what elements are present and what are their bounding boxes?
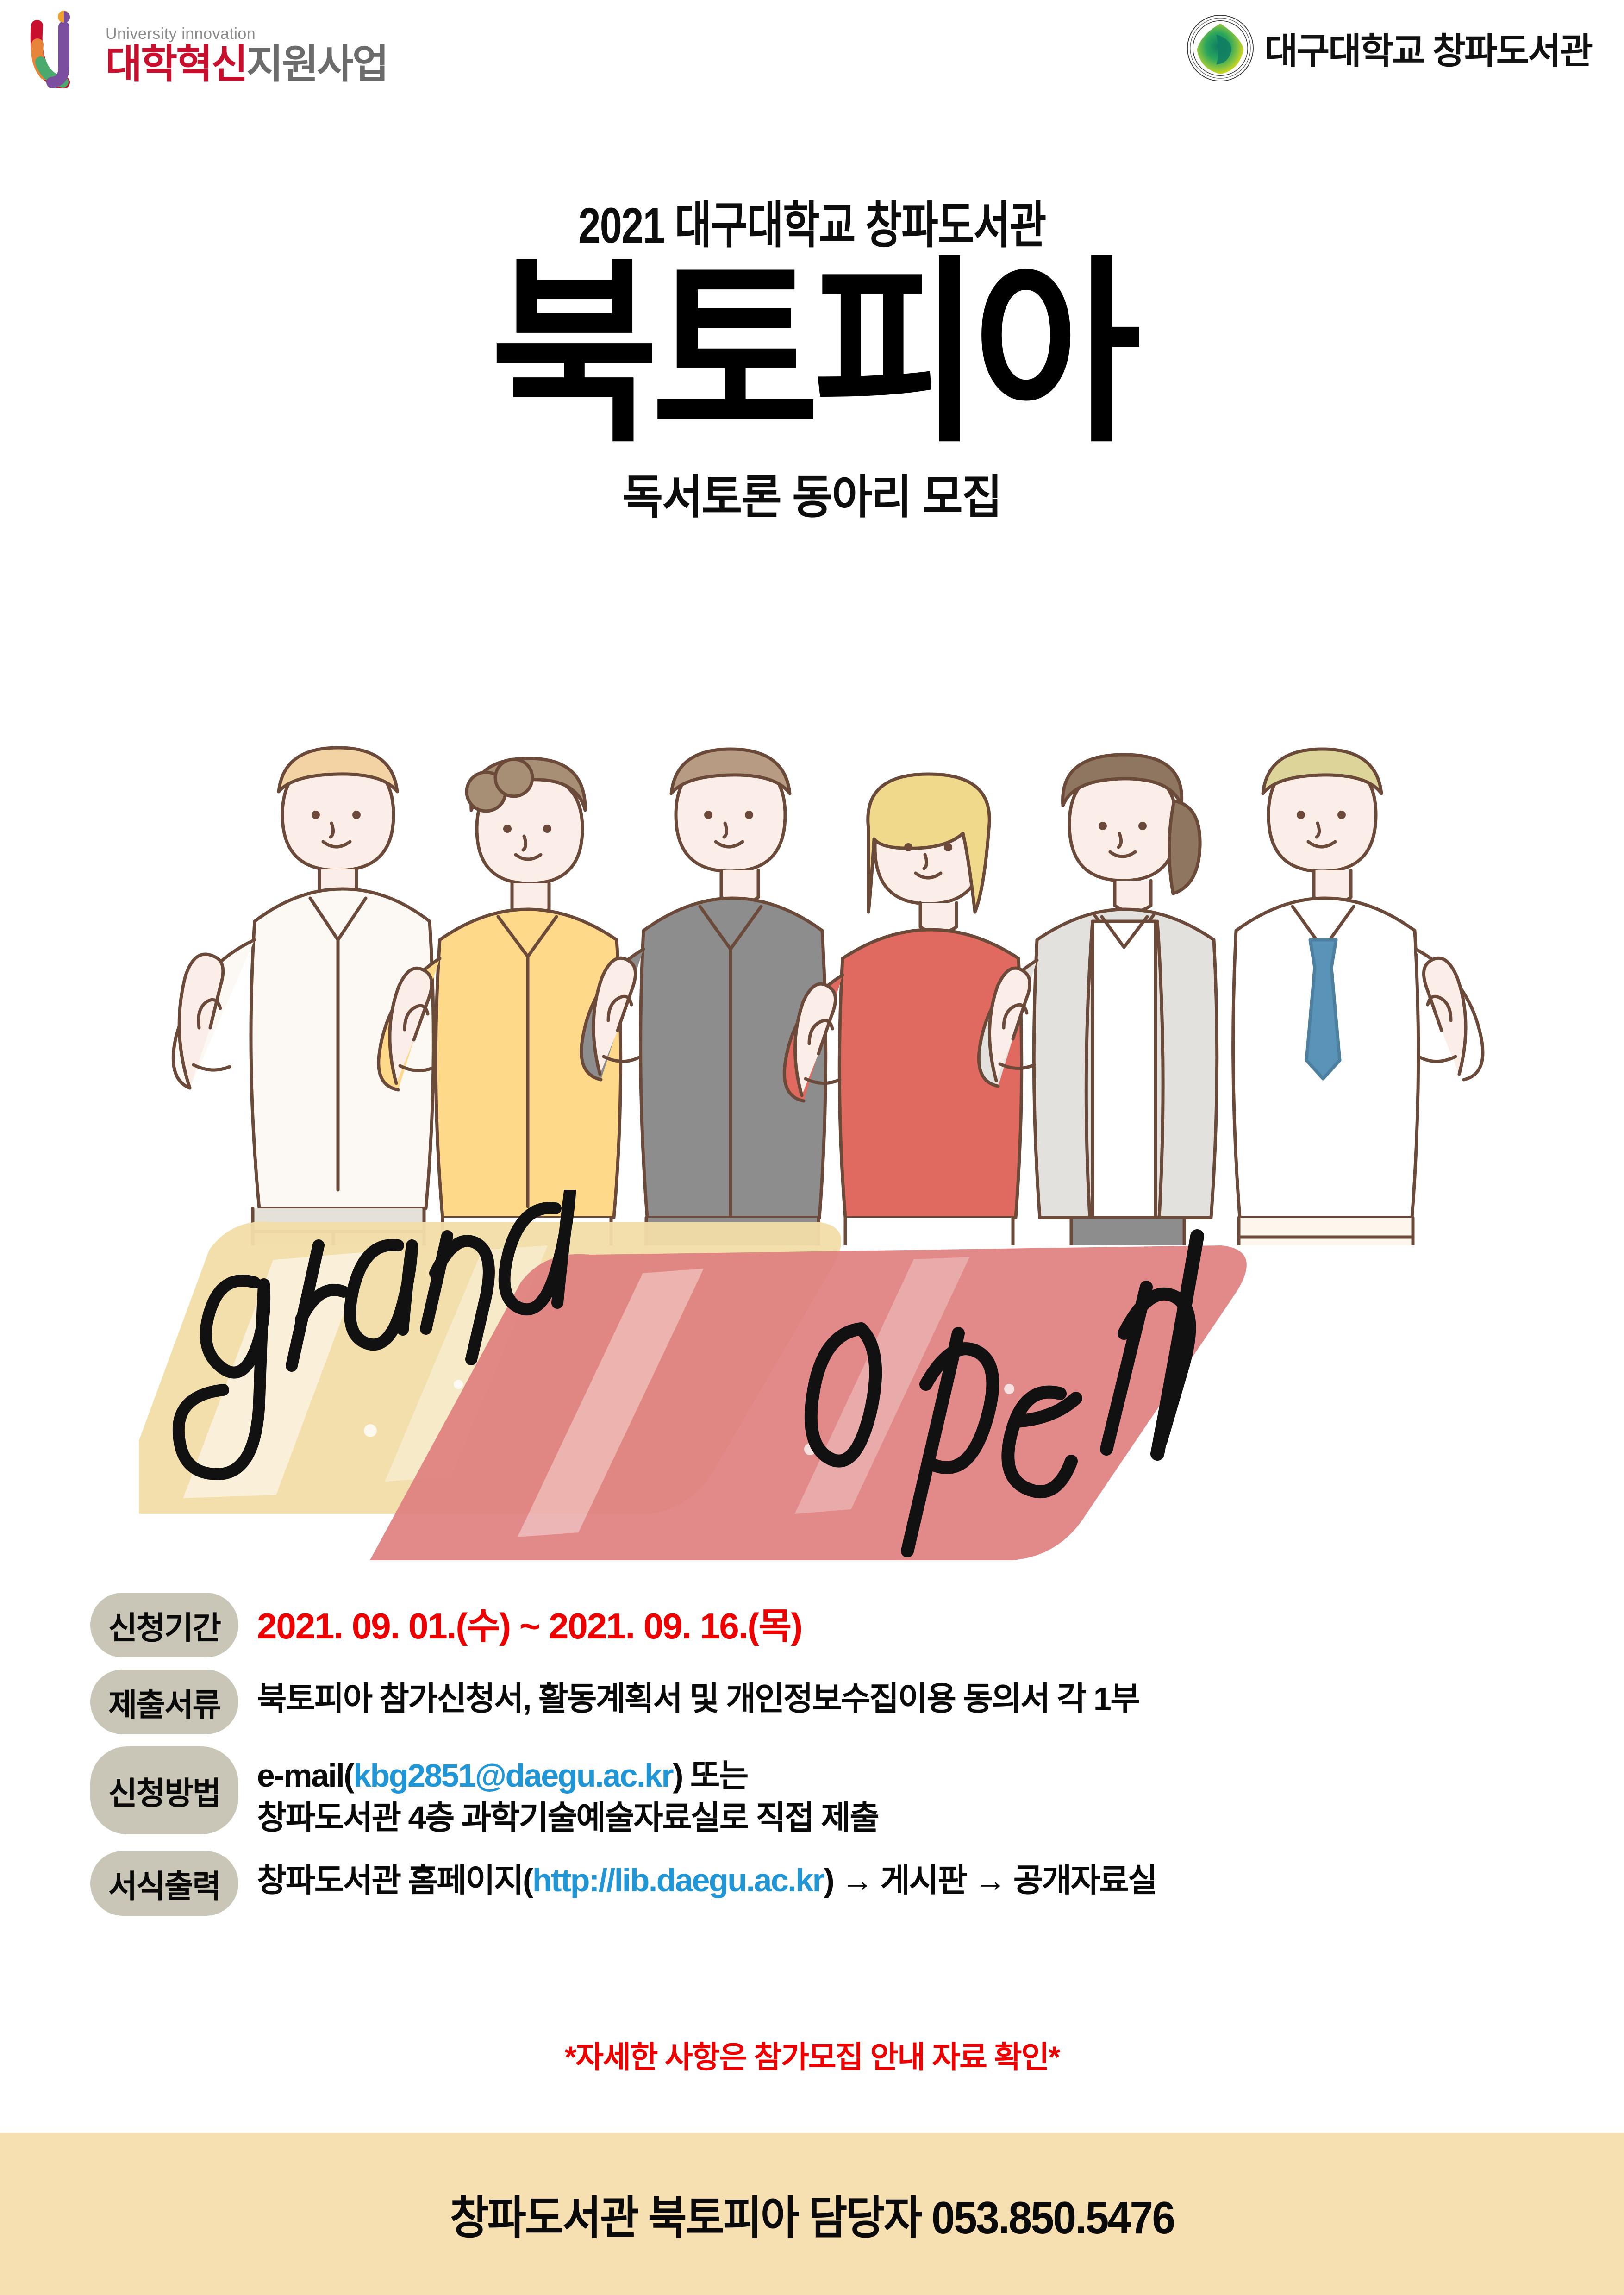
- email-link[interactable]: kbg2851@daegu.ac.kr: [353, 1757, 673, 1794]
- value-method: e-mail(kbg2851@daegu.ac.kr) 또는 창파도서관 4층 …: [257, 1746, 1562, 1839]
- info-row-form-download: 서식출력 창파도서관 홈페이지(http://lib.daegu.ac.kr) …: [90, 1851, 1562, 1916]
- poster-subtitle: 독서토론 동아리 모집: [41, 459, 1584, 526]
- value-method-line2: 창파도서관 4층 과학기술예술자료실로 직접 제출: [257, 1797, 1562, 1839]
- library-homepage-link[interactable]: http://lib.daegu.ac.kr: [532, 1862, 824, 1898]
- details-note: *자세한 사항은 참가모집 안내 자료 확인*: [0, 2032, 1624, 2077]
- value-documents: 북토피아 참가신청서, 활동계획서 및 개인정보수집이용 동의서 각 1부: [257, 1670, 1562, 1720]
- ui-korean-gray: 지원사업: [246, 42, 387, 87]
- poster-root: University innovation 대학혁신지원사업 대구대학교 창파도…: [0, 0, 1624, 2295]
- daegu-library-logo: 대구대학교 창파도서관: [1186, 14, 1592, 82]
- info-row-documents: 제출서류 북토피아 참가신청서, 활동계획서 및 개인정보수집이용 동의서 각 …: [90, 1670, 1562, 1734]
- footer-bar: 창파도서관 북토피아 담당자 053.850.5476: [0, 2133, 1624, 2295]
- info-row-method: 신청방법 e-mail(kbg2851@daegu.ac.kr) 또는 창파도서…: [90, 1746, 1562, 1839]
- value-form-download: 창파도서관 홈페이지(http://lib.daegu.ac.kr) → 게시판…: [257, 1851, 1562, 1901]
- badge-application-period: 신청기간: [90, 1593, 238, 1657]
- method-email-suffix: ) 또는: [673, 1757, 748, 1794]
- footer-contact: 창파도서관 북토피아 담당자 053.850.5476: [450, 2181, 1174, 2247]
- info-section: 신청기간 2021. 09. 01.(수) ~ 2021. 09. 16.(목)…: [90, 1593, 1562, 1928]
- info-row-application-period: 신청기간 2021. 09. 01.(수) ~ 2021. 09. 16.(목): [90, 1593, 1562, 1657]
- university-innovation-english: University innovation: [106, 26, 387, 42]
- title-block: 2021 대구대학교 창파도서관 북토피아 독서토론 동아리 모집: [0, 199, 1624, 526]
- page-title: 북토피아: [65, 260, 1559, 449]
- value-application-period: 2021. 09. 01.(수) ~ 2021. 09. 16.(목): [257, 1593, 1562, 1650]
- form-url-prefix: 창파도서관 홈페이지(: [257, 1862, 532, 1898]
- daegu-university-seal-icon: [1186, 14, 1255, 82]
- library-logo-title: 대구대학교 창파도서관: [1265, 22, 1592, 74]
- badge-form-download: 서식출력: [90, 1851, 238, 1916]
- people-thumbs-up-illustration: [116, 597, 1528, 1245]
- grand-open-artwork: [139, 1190, 1565, 1570]
- university-innovation-logo: University innovation 대학혁신지원사업: [28, 8, 387, 92]
- university-innovation-korean: 대학혁신지원사업: [106, 44, 387, 84]
- method-email-prefix: e-mail(: [257, 1757, 353, 1794]
- badge-method: 신청방법: [90, 1746, 238, 1834]
- value-method-line1: e-mail(kbg2851@daegu.ac.kr) 또는: [257, 1755, 1562, 1797]
- badge-documents: 제출서류: [90, 1670, 238, 1734]
- university-innovation-text: University innovation 대학혁신지원사업: [106, 16, 387, 84]
- person-6: [1233, 749, 1483, 1245]
- form-url-suffix: ) → 게시판 → 공개자료실: [824, 1862, 1156, 1898]
- ui-korean-red: 대학혁신: [106, 42, 246, 87]
- ui-logo-mark: [28, 8, 97, 92]
